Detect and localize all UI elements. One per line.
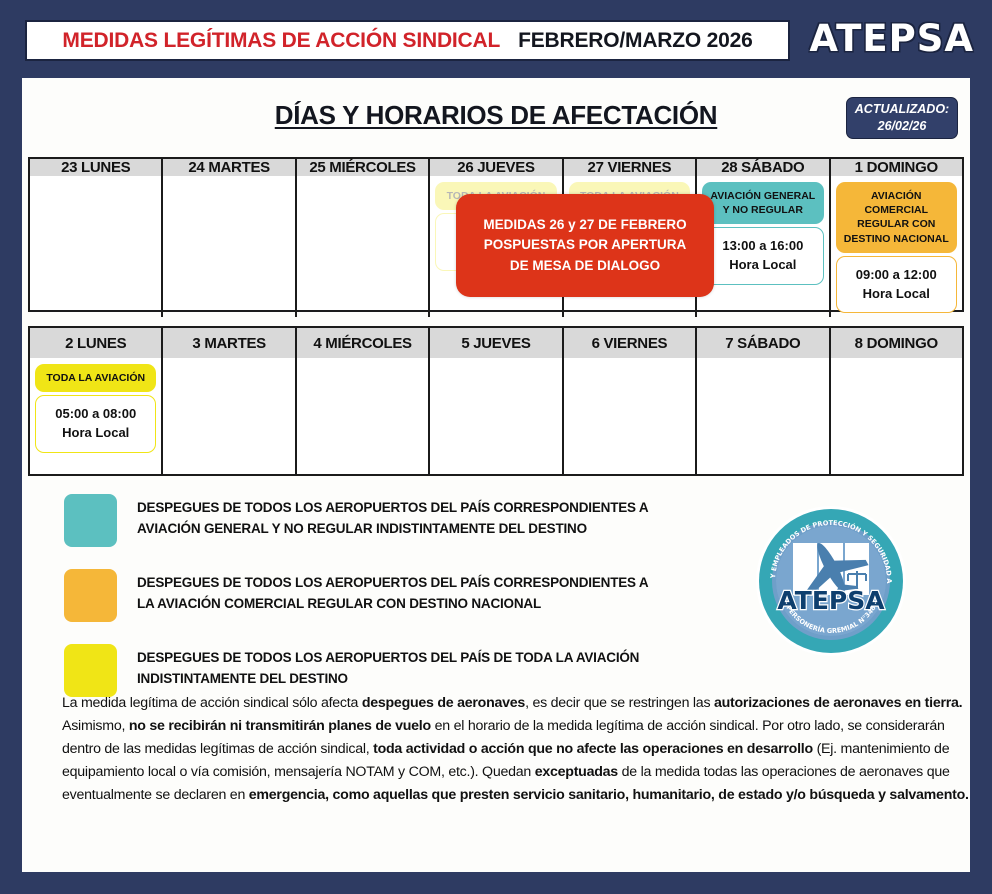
legend-item-aviacion-general: DESPEGUES DE TODOS LOS AEROPUERTOS DEL P… <box>64 494 724 547</box>
atepsa-logo-svg: ATEPSA ASOCIACIÓN TÉCNICOS Y EMPLEADOS D… <box>755 505 907 657</box>
day-cell-1-domingo: AVIACIÓN COMERCIAL REGULAR CON DESTINO N… <box>831 176 962 317</box>
day-header-25-miercoles: 25 MIÉRCOLES <box>297 159 430 176</box>
calendar-week-2: 2 LUNES 3 MARTES 4 MIÉRCOLES 5 JUEVES 6 … <box>28 326 964 476</box>
legend-teal-line-1: DESPEGUES DE TODOS LOS AEROPUERTOS DEL P… <box>137 498 648 519</box>
day-header-3-martes: 3 MARTES <box>163 328 296 358</box>
postponed-line-3: DE MESA DE DIALOGO <box>483 256 686 276</box>
measure-time-range-28: 13:00 a 16:00 <box>707 237 818 256</box>
measure-time-zone-1: Hora Local <box>841 285 952 304</box>
day-cell-7-sabado <box>697 358 830 474</box>
day-header-24-martes: 24 MARTES <box>163 159 296 176</box>
measure-time-zone-28: Hora Local <box>707 256 818 275</box>
postponed-line-1: MEDIDAS 26 y 27 DE FEBRERO <box>483 215 686 235</box>
footer-fragment-9: exceptuadas <box>535 764 618 780</box>
measure-chip-time-28: 13:00 a 16:00 Hora Local <box>702 227 823 285</box>
legend-swatch-teal <box>64 494 117 547</box>
footer-fragment-11: emergencia, como aquellas que presten se… <box>249 787 969 803</box>
legend-text-amber: DESPEGUES DE TODOS LOS AEROPUERTOS DEL P… <box>137 569 648 615</box>
legend-yellow-line-1: DESPEGUES DE TODOS LOS AEROPUERTOS DEL P… <box>137 648 639 669</box>
footer-fragment-5: no se recibirán ni transmitirán planes d… <box>129 718 431 734</box>
calendar-header-row: 23 LUNES 24 MARTES 25 MIÉRCOLES 26 JUEVE… <box>30 159 962 176</box>
legend-yellow-line-2: INDISTINTAMENTE DEL DESTINO <box>137 669 639 690</box>
footer-fragment-1: despegues de aeronaves <box>362 695 525 711</box>
day-header-26-jueves: 26 JUEVES <box>430 159 563 176</box>
day-cell-8-domingo <box>831 358 962 474</box>
day-cell-2-lunes: TODA LA AVIACIÓN 05:00 a 08:00 Hora Loca… <box>30 358 163 474</box>
day-header-4-miercoles: 4 MIÉRCOLES <box>297 328 430 358</box>
legend-text-teal: DESPEGUES DE TODOS LOS AEROPUERTOS DEL P… <box>137 494 648 540</box>
day-cell-23-lunes <box>30 176 163 317</box>
day-header-2-lunes: 2 LUNES <box>30 328 163 358</box>
measure-chip-label-2: TODA LA AVIACIÓN <box>35 364 156 392</box>
postponed-notice-overlay: MEDIDAS 26 y 27 DE FEBRERO POSPUESTAS PO… <box>456 194 714 297</box>
day-cell-5-jueves <box>430 358 563 474</box>
legend-text-yellow: DESPEGUES DE TODOS LOS AEROPUERTOS DEL P… <box>137 644 639 690</box>
poster-root: MEDIDAS LEGÍTIMAS DE ACCIÓN SINDICAL FEB… <box>0 0 992 894</box>
day-cell-28-sabado: AVIACIÓN GENERAL Y NO REGULAR 13:00 a 16… <box>697 176 830 317</box>
legend: DESPEGUES DE TODOS LOS AEROPUERTOS DEL P… <box>64 494 724 719</box>
footer-fragment-7: toda actividad o acción que no afecte la… <box>373 741 813 757</box>
day-cell-4-miercoles <box>297 358 430 474</box>
day-header-6-viernes: 6 VIERNES <box>564 328 697 358</box>
poster-content: DÍAS Y HORARIOS DE AFECTACIÓN ACTUALIZAD… <box>22 0 970 894</box>
measure-time-zone-2: Hora Local <box>40 424 151 443</box>
day-header-23-lunes: 23 LUNES <box>30 159 163 176</box>
legend-swatch-yellow <box>64 644 117 697</box>
calendar-body-row-2: TODA LA AVIACIÓN 05:00 a 08:00 Hora Loca… <box>30 358 962 474</box>
section-heading: DÍAS Y HORARIOS DE AFECTACIÓN <box>22 100 970 131</box>
measure-chip-time-2: 05:00 a 08:00 Hora Local <box>35 395 156 453</box>
day-header-28-sabado: 28 SÁBADO <box>697 159 830 176</box>
postponed-notice-text: MEDIDAS 26 y 27 DE FEBRERO POSPUESTAS PO… <box>483 215 686 276</box>
day-header-7-sabado: 7 SÁBADO <box>697 328 830 358</box>
measure-chip-time-1: 09:00 a 12:00 Hora Local <box>836 256 957 314</box>
legend-swatch-amber <box>64 569 117 622</box>
measure-time-range-1: 09:00 a 12:00 <box>841 266 952 285</box>
legend-amber-line-2: LA AVIACIÓN COMERCIAL REGULAR CON DESTIN… <box>137 594 648 615</box>
updated-date: 26/02/26 <box>878 118 927 135</box>
day-header-8-domingo: 8 DOMINGO <box>831 328 962 358</box>
measure-time-range-2: 05:00 a 08:00 <box>40 405 151 424</box>
updated-badge: ACTUALIZADO: 26/02/26 <box>846 97 958 139</box>
day-cell-3-martes <box>163 358 296 474</box>
section-heading-text: DÍAS Y HORARIOS DE AFECTACIÓN <box>275 100 718 130</box>
legend-item-aviacion-comercial: DESPEGUES DE TODOS LOS AEROPUERTOS DEL P… <box>64 569 724 622</box>
calendar-header-row-2: 2 LUNES 3 MARTES 4 MIÉRCOLES 5 JUEVES 6 … <box>30 328 962 358</box>
day-cell-24-martes <box>163 176 296 317</box>
postponed-line-2: POSPUESTAS POR APERTURA <box>483 235 686 255</box>
footer-fragment-2: , es decir que se restringen las <box>525 695 714 711</box>
atepsa-logo: ATEPSA ASOCIACIÓN TÉCNICOS Y EMPLEADOS D… <box>755 505 907 657</box>
updated-label: ACTUALIZADO: <box>855 101 949 118</box>
day-header-1-domingo: 1 DOMINGO <box>831 159 962 176</box>
footer-fragment-3: autorizaciones de aeronaves en tierra. <box>714 695 962 711</box>
legend-amber-line-1: DESPEGUES DE TODOS LOS AEROPUERTOS DEL P… <box>137 573 648 594</box>
measure-chip-label-1: AVIACIÓN COMERCIAL REGULAR CON DESTINO N… <box>836 182 957 253</box>
footer-fragment-0: La medida legítima de acción sindical só… <box>62 695 362 711</box>
day-cell-6-viernes <box>564 358 697 474</box>
day-header-5-jueves: 5 JUEVES <box>430 328 563 358</box>
day-header-27-viernes: 27 VIERNES <box>564 159 697 176</box>
measure-chip-label-28: AVIACIÓN GENERAL Y NO REGULAR <box>702 182 823 224</box>
footer-fragment-4: Asimismo, <box>62 718 129 734</box>
day-cell-25-miercoles <box>297 176 430 317</box>
legend-teal-line-2: AVIACIÓN GENERAL Y NO REGULAR INDISTINTA… <box>137 519 648 540</box>
footer-paragraph: La medida legítima de acción sindical só… <box>62 692 974 807</box>
legend-item-toda-la-aviacion: DESPEGUES DE TODOS LOS AEROPUERTOS DEL P… <box>64 644 724 697</box>
